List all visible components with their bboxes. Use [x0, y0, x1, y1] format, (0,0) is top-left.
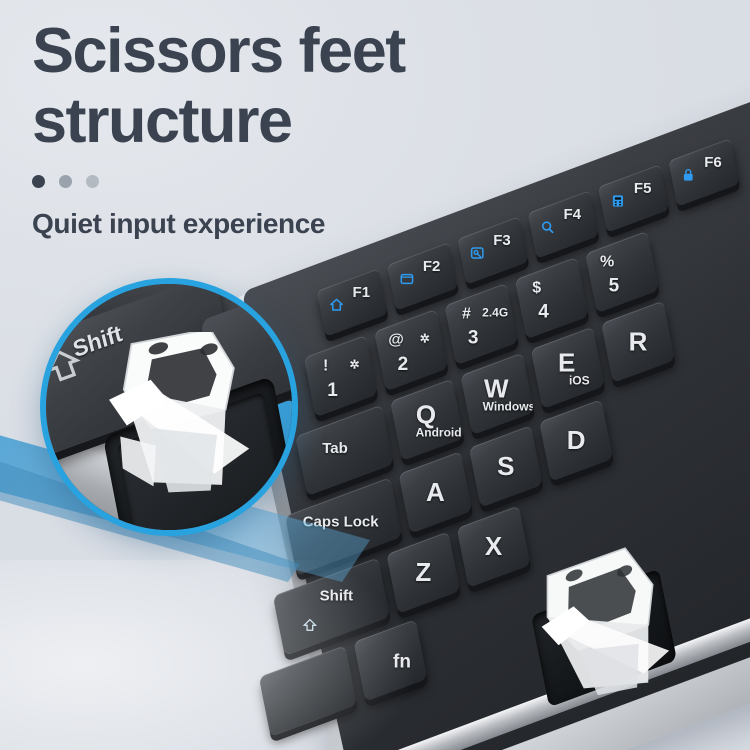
key-e[interactable]: E iOS	[531, 327, 605, 409]
key-caps-lock-label: Caps Lock	[303, 514, 379, 531]
key-w-sublabel: Windows	[483, 399, 534, 413]
key-4-upper: $	[532, 279, 541, 297]
home-icon	[328, 298, 345, 313]
key-4-lower: 4	[538, 302, 549, 324]
dot-3[interactable]	[86, 175, 99, 188]
key-f6[interactable]: F6	[668, 138, 739, 207]
scissor-switch-magnified	[94, 332, 266, 505]
key-z[interactable]: Z	[386, 531, 460, 613]
key-a[interactable]: A	[399, 451, 473, 533]
key-shift-label: Shift	[319, 587, 352, 604]
page-title-line-1: Scissors feet	[32, 22, 672, 82]
key-1[interactable]: ! 1 ✲	[304, 335, 378, 417]
key-1-upper: !	[323, 357, 328, 375]
bluetooth-icon: ✲	[349, 358, 359, 372]
key-z-label: Z	[415, 557, 431, 588]
key-a-label: A	[426, 477, 445, 508]
key-2[interactable]: @ 2 ✲	[374, 309, 448, 391]
key-f1-label: F1	[352, 284, 370, 301]
key-ctrl[interactable]	[259, 645, 357, 736]
key-3-upper: #	[462, 305, 471, 323]
key-d[interactable]: D	[539, 399, 613, 481]
key-f6-label: F6	[704, 154, 722, 171]
key-3[interactable]: # 3 2.4G	[444, 283, 518, 365]
key-3-lower: 3	[468, 328, 479, 350]
window-icon	[399, 272, 416, 287]
key-f1[interactable]: F1	[317, 268, 388, 337]
key-e-sublabel: iOS	[569, 373, 590, 387]
key-s-label: S	[497, 451, 514, 482]
key-fn-label: fn	[393, 652, 411, 674]
key-w[interactable]: W Windows	[460, 353, 534, 435]
key-4[interactable]: $ 4	[515, 257, 589, 339]
headline-block: Scissors feet structure Quiet input expe…	[32, 22, 672, 240]
key-5[interactable]: % 5	[585, 231, 659, 313]
pagination-dots	[32, 175, 672, 188]
shift-arrow-icon	[302, 617, 319, 632]
key-tab-label: Tab	[322, 440, 348, 457]
key-q-sublabel: Android	[416, 425, 462, 439]
key-5-upper: %	[600, 253, 614, 271]
key-r-label: R	[629, 326, 648, 357]
dot-2[interactable]	[59, 175, 72, 188]
key-1-lower: 1	[327, 380, 338, 402]
key-d-label: D	[567, 425, 586, 456]
page-subtitle: Quiet input experience	[32, 208, 672, 240]
lock-icon	[680, 168, 697, 183]
search-person-icon	[469, 246, 486, 261]
scissor-switch-bottom	[520, 540, 700, 700]
key-fn[interactable]: fn	[354, 619, 428, 701]
bluetooth-icon: ✲	[420, 332, 430, 346]
key-f2[interactable]: F2	[387, 242, 458, 311]
key-r[interactable]: R	[601, 301, 675, 383]
product-banner: F1 F2 F3 F4	[0, 0, 750, 750]
key-3-sublabel: 2.4G	[482, 306, 508, 320]
key-x-label: X	[485, 531, 502, 562]
dot-1[interactable]	[32, 175, 45, 188]
key-5-lower: 5	[608, 276, 619, 298]
page-title-line-2: structure	[32, 92, 672, 152]
key-2-upper: @	[388, 331, 404, 349]
magnifier-content: Shift	[46, 284, 292, 530]
key-2-lower: 2	[397, 354, 408, 376]
key-s[interactable]: S	[469, 425, 543, 507]
magnifier-circle: Shift	[40, 278, 298, 536]
key-q[interactable]: Q Android	[390, 379, 464, 461]
key-f2-label: F2	[422, 258, 440, 275]
